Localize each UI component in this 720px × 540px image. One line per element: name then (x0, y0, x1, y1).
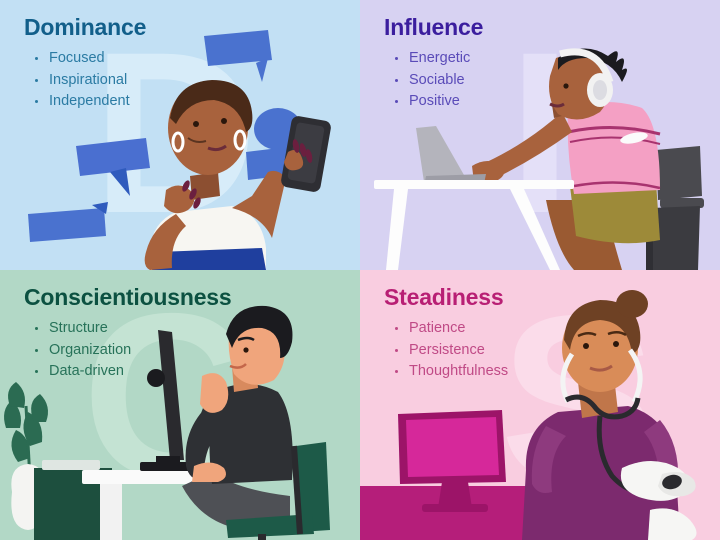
text-block-dominance: Dominance Focused Inspirational Independ… (24, 14, 146, 113)
trait-item: Sociable (394, 70, 483, 92)
quadrant-conscientiousness: C (0, 270, 360, 540)
quadrant-steadiness: S (360, 270, 720, 540)
trait-list-conscientiousness: Structure Organization Data-driven (24, 318, 232, 383)
figure-woman (145, 80, 332, 270)
trait-list-dominance: Focused Inspirational Independent (24, 48, 146, 113)
quadrant-title-conscientiousness: Conscientiousness (24, 284, 232, 311)
figure-person (472, 48, 660, 270)
trait-item: Data-driven (34, 361, 232, 383)
trait-item: Focused (34, 48, 146, 70)
quadrant-title-influence: Influence (384, 14, 483, 41)
text-block-conscientiousness: Conscientiousness Structure Organization… (24, 284, 232, 383)
disc-personality-infographic: D (0, 0, 720, 540)
trait-list-steadiness: Patience Persistence Thoughtfulness (384, 318, 508, 383)
trait-item: Inspirational (34, 70, 146, 92)
quadrant-title-steadiness: Steadiness (384, 284, 508, 311)
trait-item: Independent (34, 91, 146, 113)
figure-nurse (522, 290, 697, 540)
trait-item: Energetic (394, 48, 483, 70)
trait-item: Organization (34, 340, 232, 362)
trait-item: Thoughtfulness (394, 361, 508, 383)
text-block-influence: Influence Energetic Sociable Positive (384, 14, 483, 113)
trait-item: Patience (394, 318, 508, 340)
trait-item: Persistence (394, 340, 508, 362)
quadrant-influence: I (360, 0, 720, 270)
trait-list-influence: Energetic Sociable Positive (384, 48, 483, 113)
quadrant-dominance: D (0, 0, 360, 270)
text-block-steadiness: Steadiness Patience Persistence Thoughtf… (384, 284, 508, 383)
quadrant-title-dominance: Dominance (24, 14, 146, 41)
trait-item: Positive (394, 91, 483, 113)
trait-item: Structure (34, 318, 232, 340)
